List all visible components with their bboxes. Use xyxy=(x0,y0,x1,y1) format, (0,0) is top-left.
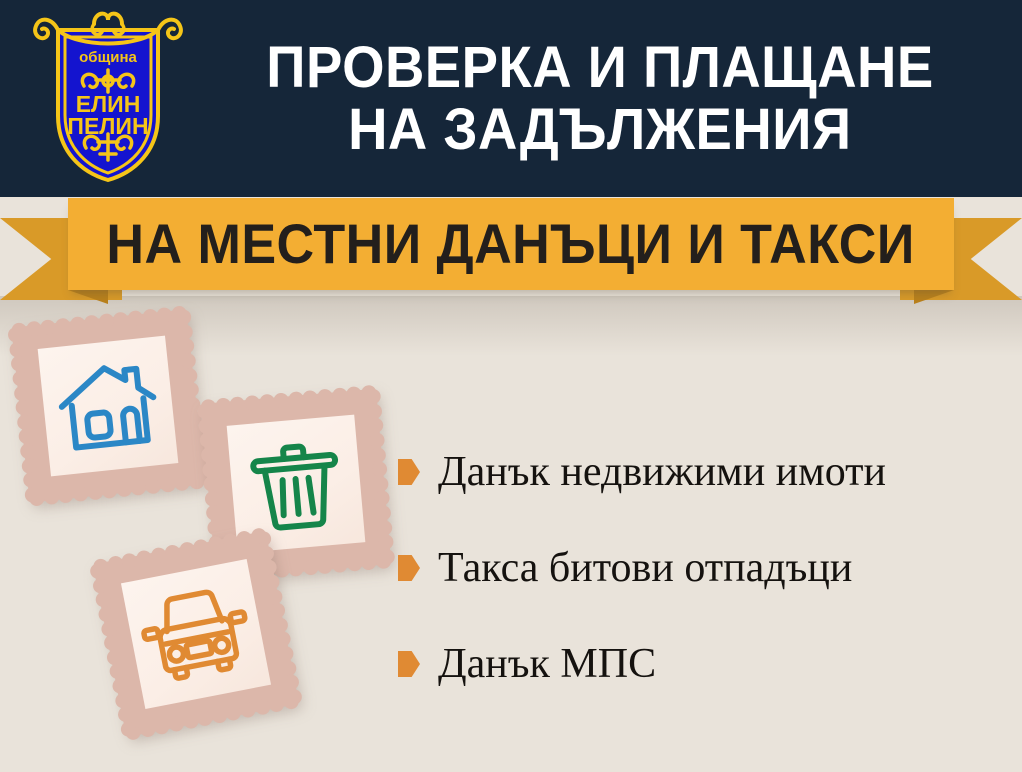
obligation-type-list: Данък недвижими имоти Такса битови отпад… xyxy=(398,424,1008,712)
list-item-label: Такса битови отпадъци xyxy=(438,545,852,591)
arrow-bullet-icon xyxy=(398,555,420,581)
stamp-card-house xyxy=(11,309,204,502)
stamp-card-car xyxy=(93,531,299,737)
stamp-paper xyxy=(121,559,271,709)
list-item-label: Данък МПС xyxy=(438,641,656,687)
title-line-1: ПРОВЕРКА И ПЛАЩАНЕ xyxy=(266,37,933,99)
municipality-logo: община ЕЛИН ПЕЛИН xyxy=(28,8,188,188)
poster-title: ПРОВЕРКА И ПЛАЩАНЕ НА ЗАДЪЛЖЕНИЯ xyxy=(190,14,1010,184)
list-item: Данък МПС xyxy=(398,616,1008,712)
arrow-bullet-icon xyxy=(398,651,420,677)
title-line-2: НА ЗАДЪЛЖЕНИЯ xyxy=(348,99,851,161)
poster-stage: община ЕЛИН ПЕЛИН ПРОВЕРКА И ПЛАЩАНЕ НА … xyxy=(0,0,1022,772)
list-item: Данък недвижими имоти xyxy=(398,424,1008,520)
list-item-label: Данък недвижими имоти xyxy=(438,449,886,495)
ribbon-banner: НА МЕСТНИ ДАНЪЦИ И ТАКСИ xyxy=(68,198,954,290)
car-front-icon xyxy=(134,579,258,690)
list-item: Такса битови отпадъци xyxy=(398,520,1008,616)
subtitle-ribbon: НА МЕСТНИ ДАНЪЦИ И ТАКСИ xyxy=(0,190,1022,320)
crest-icon: община ЕЛИН ПЕЛИН xyxy=(28,8,188,188)
header-bar: община ЕЛИН ПЕЛИН ПРОВЕРКА И ПЛАЩАНЕ НА … xyxy=(0,0,1022,197)
arrow-bullet-icon xyxy=(398,459,420,485)
crest-word-pelin: ПЕЛИН xyxy=(67,113,148,139)
house-icon xyxy=(51,353,164,459)
ribbon-label: НА МЕСТНИ ДАНЪЦИ И ТАКСИ xyxy=(107,215,915,273)
crest-word-obshtina: община xyxy=(79,49,137,66)
trash-bin-icon xyxy=(244,430,348,538)
stamp-paper xyxy=(38,336,179,477)
